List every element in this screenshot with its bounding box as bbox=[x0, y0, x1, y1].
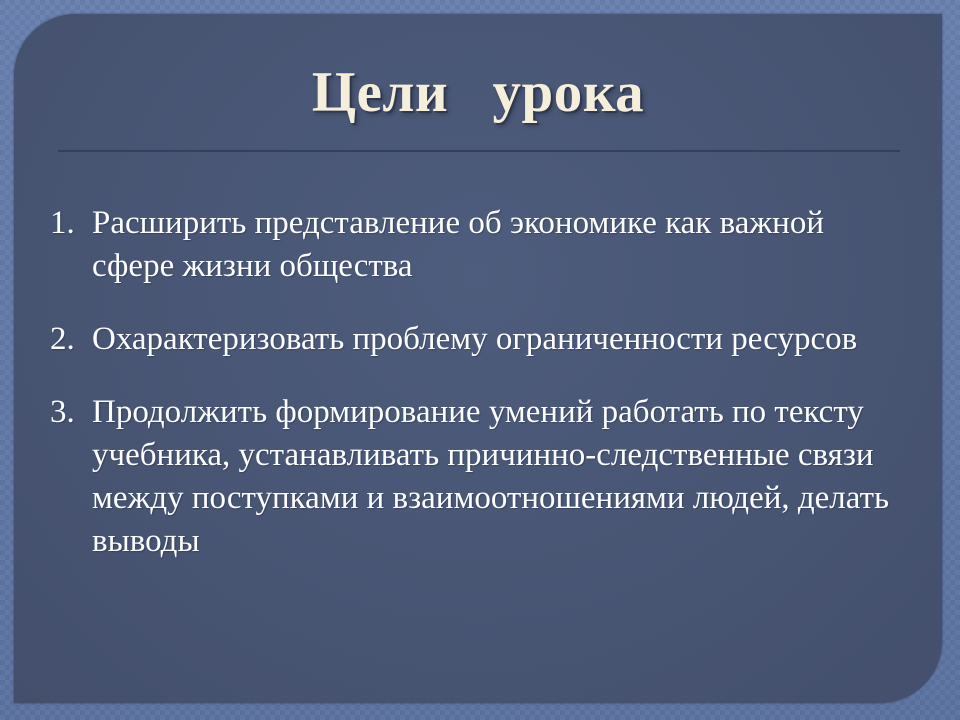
list-item-number: 2. bbox=[40, 318, 92, 361]
slide-title-block: Цели урока bbox=[14, 62, 942, 124]
list-item-text: Продолжить формирование умений работать … bbox=[92, 391, 920, 563]
title-divider bbox=[58, 149, 900, 153]
list-item: 3. Продолжить формирование умений работа… bbox=[40, 391, 920, 563]
list-item: 1. Расширить представление об экономике … bbox=[40, 202, 920, 288]
list-item-text: Охарактеризовать проблему ограниченности… bbox=[92, 318, 920, 361]
list-item-number: 1. bbox=[40, 202, 92, 245]
list-item-number: 3. bbox=[40, 391, 92, 434]
list-item: 2. Охарактеризовать проблему ограниченно… bbox=[40, 318, 920, 361]
page-title: Цели урока bbox=[312, 62, 644, 124]
slide-content-panel: Цели урока 1. Расширить представление об… bbox=[14, 14, 942, 703]
presentation-slide: Цели урока 1. Расширить представление об… bbox=[0, 0, 960, 720]
goals-list: 1. Расширить представление об экономике … bbox=[40, 202, 920, 563]
list-item-text: Расширить представление об экономике как… bbox=[92, 202, 920, 288]
